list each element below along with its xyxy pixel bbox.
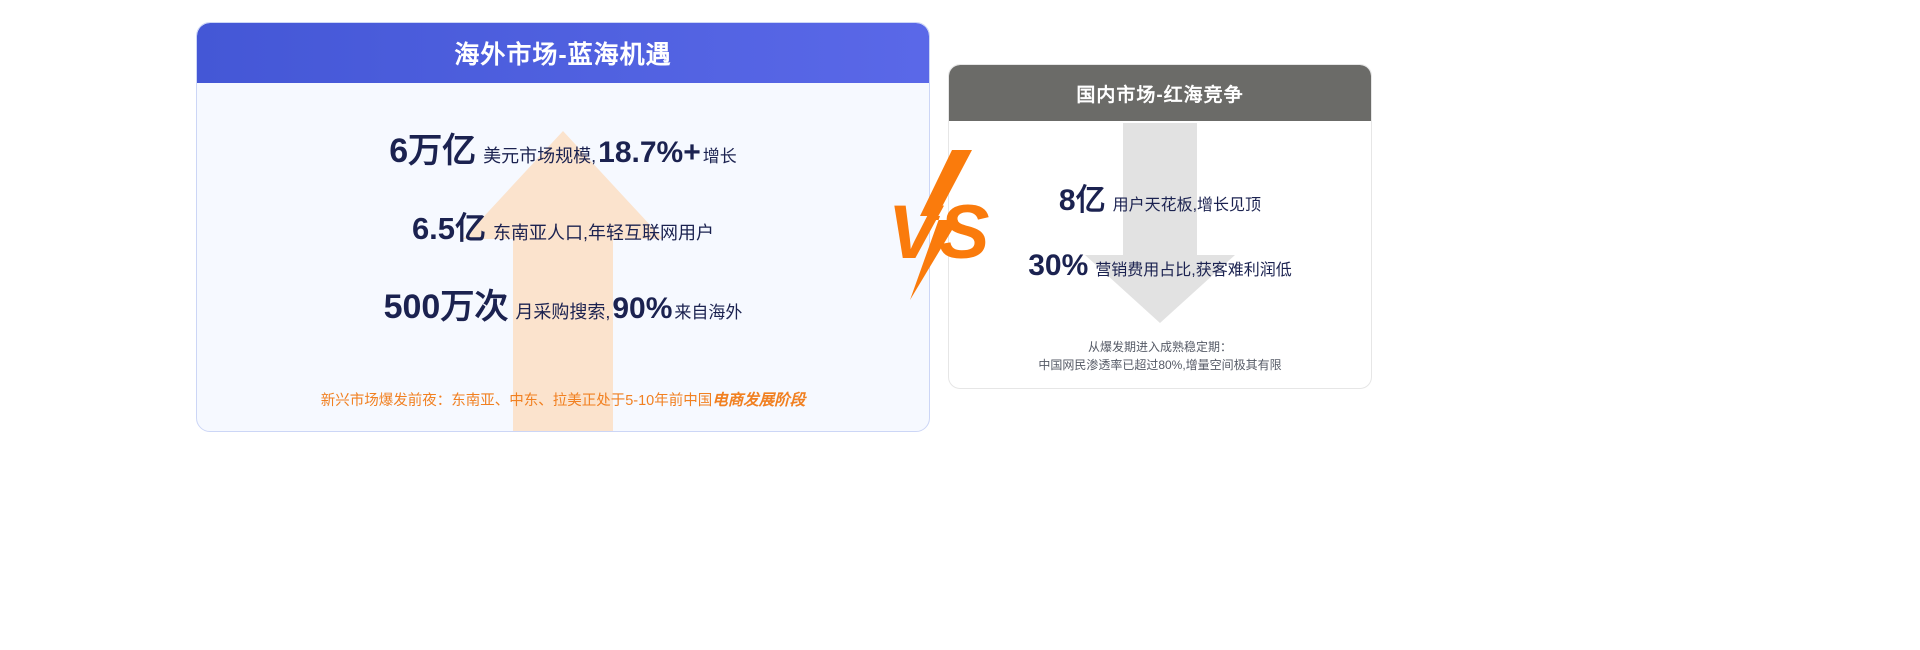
domestic-card-title: 国内市场-红海竞争 — [1076, 80, 1243, 107]
domestic-card-header: 国内市场-红海竞争 — [949, 65, 1371, 121]
overseas-card-body: 6万亿 美元市场规模, 18.7%+ 增长 6.5亿 东南亚人口,年轻互联网用户… — [197, 83, 929, 432]
stat-row: 30% 营销费用占比,获客难利润低 — [1028, 249, 1292, 283]
overseas-market-card: 海外市场-蓝海机遇 6万亿 美元市场规模, 18.7%+ 增长 6.5亿 东南亚… — [196, 22, 930, 432]
infographic-canvas: 海外市场-蓝海机遇 6万亿 美元市场规模, 18.7%+ 增长 6.5亿 东南亚… — [0, 0, 1920, 650]
stat-label: 营销费用占比,获客难利润低 — [1095, 256, 1291, 280]
stat-number-secondary: 18.7%+ — [598, 136, 701, 170]
stat-number: 6万亿 — [389, 123, 476, 172]
domestic-footnote: 从爆发期进入成熟稳定期： 中国网民渗透率已超过80%,增量空间极其有限 — [949, 338, 1371, 375]
stat-label: 用户天花板,增长见顶 — [1113, 191, 1261, 215]
stat-row: 6.5亿 东南亚人口,年轻互联网用户 — [412, 203, 714, 248]
overseas-stats-list: 6万亿 美元市场规模, 18.7%+ 增长 6.5亿 东南亚人口,年轻互联网用户… — [197, 83, 929, 432]
stat-number: 30% — [1028, 249, 1088, 283]
stat-number: 500万次 — [384, 279, 509, 328]
stat-label: 月采购搜索, — [515, 298, 610, 324]
domestic-footnote-line-1: 从爆发期进入成熟稳定期： — [949, 338, 1371, 357]
stat-number: 6.5亿 — [412, 203, 486, 248]
domestic-card-body: 8亿 用户天花板,增长见顶 30% 营销费用占比,获客难利润低 从爆发期进入成熟… — [949, 121, 1371, 389]
overseas-footnote-prefix: 新兴市场爆发前夜：东南亚、中东、拉美正处于5-10年前中国 — [321, 393, 713, 409]
stat-label: 美元市场规模, — [483, 142, 596, 168]
overseas-card-header: 海外市场-蓝海机遇 — [197, 23, 929, 83]
stat-row: 8亿 用户天花板,增长见顶 — [1059, 175, 1261, 219]
vs-label: VS — [888, 190, 989, 275]
stat-number: 8亿 — [1059, 175, 1106, 219]
overseas-footnote-emphasis: 电商发展阶段 — [712, 392, 805, 409]
stat-row: 500万次 月采购搜索, 90% 来自海外 — [384, 279, 743, 328]
stat-label-secondary: 增长 — [703, 142, 737, 167]
stat-row: 6万亿 美元市场规模, 18.7%+ 增长 — [389, 123, 737, 172]
vs-badge-graphic: VS — [880, 150, 1010, 300]
domestic-market-card: 国内市场-红海竞争 8亿 用户天花板,增长见顶 30% 营销费用占比,获客难利润… — [948, 64, 1372, 389]
stat-number-secondary: 90% — [612, 292, 672, 326]
vs-badge: VS — [880, 150, 1010, 300]
overseas-card-title: 海外市场-蓝海机遇 — [454, 35, 671, 71]
overseas-footnote: 新兴市场爆发前夜：东南亚、中东、拉美正处于5-10年前中国电商发展阶段 — [197, 388, 929, 410]
domestic-footnote-line-2: 中国网民渗透率已超过80%,增量空间极其有限 — [949, 356, 1371, 375]
stat-label: 东南亚人口,年轻互联网用户 — [493, 219, 714, 245]
stat-label-secondary: 来自海外 — [674, 298, 742, 323]
